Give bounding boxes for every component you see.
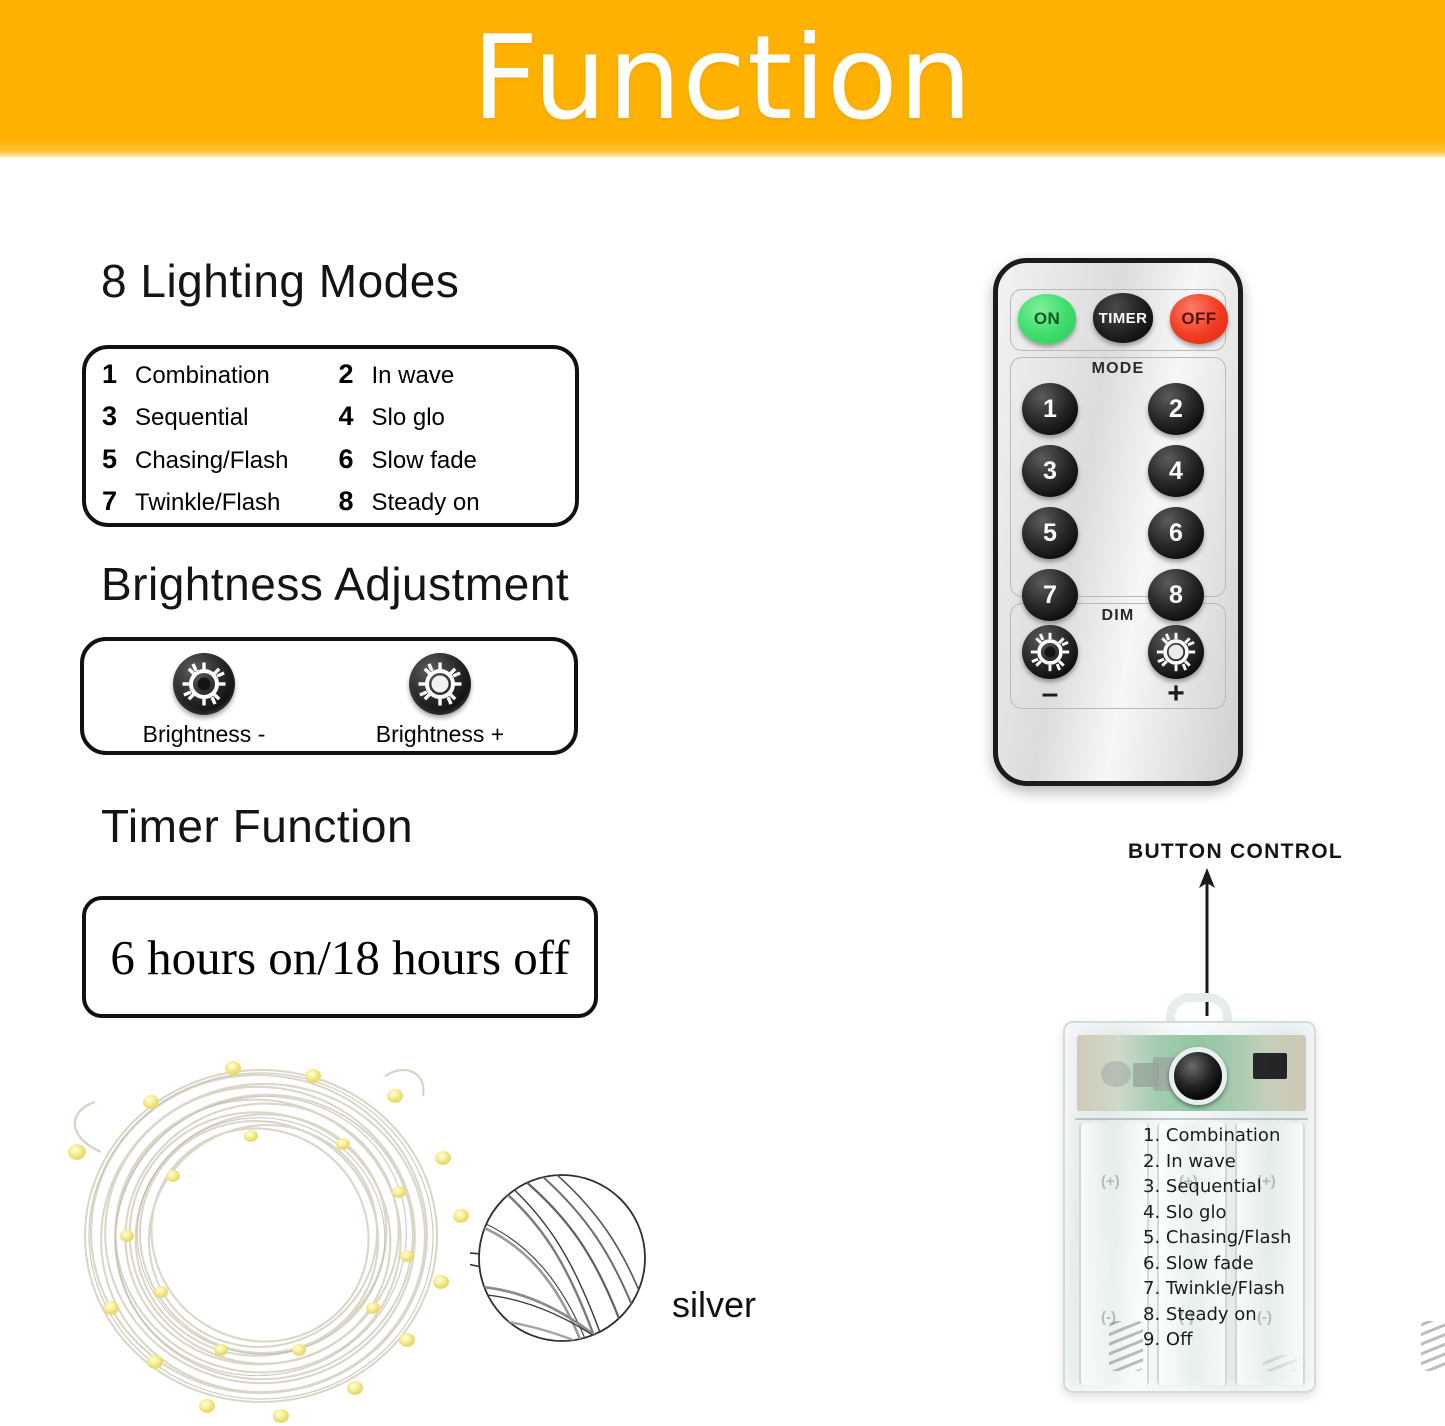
mode-label: Twinkle/Flash xyxy=(135,489,280,517)
remote-mode-button-2[interactable]: 2 xyxy=(1148,383,1204,435)
brightness-down-icon xyxy=(173,653,235,715)
mode-label: Slow fade xyxy=(372,447,477,475)
button-control-label: BUTTON CONTROL xyxy=(1128,840,1343,864)
mode-label: Slo glo xyxy=(372,404,445,432)
battery-box-mode-item: 7. Twinkle/Flash xyxy=(1143,1276,1319,1302)
battery-spring xyxy=(1109,1321,1143,1371)
brightness-plus-item: Brightness + xyxy=(350,653,530,748)
remote-control: ON TIMER OFF MODE 1 2 3 4 5 6 7 8 DIM xyxy=(993,258,1243,786)
battery-spring xyxy=(1421,1321,1445,1371)
battery-box-body: (+) (+) (+) (-) (-) (-) 1. Combination 2… xyxy=(1063,1021,1316,1393)
mode-number: 8 xyxy=(339,486,365,517)
mode-item: 3 Sequential xyxy=(86,401,331,432)
brightness-up-icon xyxy=(409,653,471,715)
battery-box-mode-item: 1. Combination xyxy=(1143,1123,1319,1149)
remote-on-button[interactable]: ON xyxy=(1018,294,1076,344)
remote-dim-minus-sign: – xyxy=(1022,677,1078,711)
battery-box: (+) (+) (+) (-) (-) (-) 1. Combination 2… xyxy=(1063,993,1316,1393)
battery-box-mode-item: 9. Off xyxy=(1143,1327,1319,1353)
battery-box-mode-list: 1. Combination 2. In wave 3. Sequential … xyxy=(1143,1123,1319,1353)
sun-icon xyxy=(1155,631,1197,673)
remote-mode-button-3[interactable]: 3 xyxy=(1022,445,1078,497)
battery-box-divider xyxy=(1075,1118,1308,1120)
ic-component xyxy=(1253,1053,1287,1079)
brightness-minus-item: Brightness - xyxy=(114,653,294,748)
mode-item: 5 Chasing/Flash xyxy=(86,444,331,475)
sun-icon xyxy=(1029,631,1071,673)
mode-label: Combination xyxy=(135,362,270,390)
mode-item: 8 Steady on xyxy=(331,486,576,517)
battery-box-mode-item: 6. Slow fade xyxy=(1143,1251,1319,1277)
brightness-minus-label: Brightness - xyxy=(114,721,294,748)
mode-number: 5 xyxy=(102,444,128,475)
mode-number: 7 xyxy=(102,486,128,517)
remote-mode-button-5[interactable]: 5 xyxy=(1022,507,1078,559)
mode-label: Sequential xyxy=(135,404,248,432)
remote-dim-down-button[interactable] xyxy=(1022,625,1078,679)
mode-number: 6 xyxy=(339,444,365,475)
lighting-modes-box: 1 Combination 2 In wave 3 Sequential 4 S… xyxy=(82,345,579,527)
remote-dim-label: DIM xyxy=(998,607,1238,625)
polarity-mark: (+) xyxy=(1101,1173,1120,1190)
battery-box-mode-item: 4. Slo glo xyxy=(1143,1200,1319,1226)
timer-value: 6 hours on/18 hours off xyxy=(86,900,594,1014)
battery-slot xyxy=(1079,1123,1149,1385)
remote-timer-button[interactable]: TIMER xyxy=(1093,293,1153,343)
wire-magnifier xyxy=(470,1168,650,1348)
mode-number: 1 xyxy=(102,359,128,390)
mode-item: 6 Slow fade xyxy=(331,444,576,475)
brightness-plus-label: Brightness + xyxy=(350,721,530,748)
mode-number: 3 xyxy=(102,401,128,432)
mode-number: 2 xyxy=(339,359,365,390)
battery-box-mode-item: 8. Steady on xyxy=(1143,1302,1319,1328)
brightness-box: Brightness - Brightness + xyxy=(80,637,578,755)
mode-label: Steady on xyxy=(372,489,480,517)
mode-item: 7 Twinkle/Flash xyxy=(86,486,331,517)
mode-label: In wave xyxy=(372,362,455,390)
header-banner: Function xyxy=(0,0,1445,158)
remote-mode-label: MODE xyxy=(998,360,1238,378)
remote-off-button[interactable]: OFF xyxy=(1170,294,1228,344)
led-string-coil xyxy=(55,1040,485,1426)
battery-box-mode-item: 3. Sequential xyxy=(1143,1174,1319,1200)
remote-dim-up-button[interactable] xyxy=(1148,625,1204,679)
lighting-modes-grid: 1 Combination 2 In wave 3 Sequential 4 S… xyxy=(86,349,575,523)
polarity-mark: (-) xyxy=(1101,1309,1116,1326)
mode-label: Chasing/Flash xyxy=(135,447,288,475)
battery-box-mode-item: 5. Chasing/Flash xyxy=(1143,1225,1319,1251)
mode-item: 1 Combination xyxy=(86,359,331,390)
remote-mode-button-6[interactable]: 6 xyxy=(1148,507,1204,559)
mode-number: 4 xyxy=(339,401,365,432)
mode-item: 2 In wave xyxy=(331,359,576,390)
timer-box: 6 hours on/18 hours off xyxy=(82,896,598,1018)
timer-heading: Timer Function xyxy=(101,800,413,852)
battery-box-mode-item: 2. In wave xyxy=(1143,1149,1319,1175)
lighting-modes-heading: 8 Lighting Modes xyxy=(101,255,459,307)
page-title: Function xyxy=(0,16,1445,142)
mode-item: 4 Slo glo xyxy=(331,401,576,432)
remote-mode-button-4[interactable]: 4 xyxy=(1148,445,1204,497)
capacitor-component xyxy=(1101,1061,1131,1087)
silver-wire-label: silver xyxy=(672,1284,756,1326)
remote-mode-button-1[interactable]: 1 xyxy=(1022,383,1078,435)
battery-box-control-button[interactable] xyxy=(1169,1047,1227,1105)
remote-dim-plus-sign: + xyxy=(1148,677,1204,711)
brightness-heading: Brightness Adjustment xyxy=(101,558,569,610)
